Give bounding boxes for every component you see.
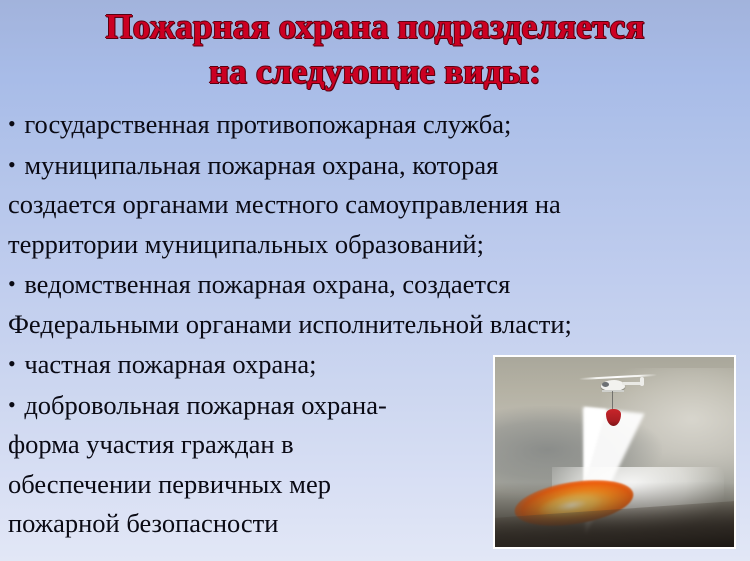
title-line-1: Пожарная охрана подразделяется [0,4,750,49]
list-item-text: добровольная пожарная охрана- [24,390,387,420]
list-item-continuation: территории муниципальных образований; [8,225,708,265]
list-item-text: пожарной безопасности [8,508,278,538]
list-item-text: Федеральными органами исполнительной вла… [8,309,572,339]
helicopter-tail-fin [640,377,644,386]
list-item-continuation: Федеральными органами исполнительной вла… [8,305,708,345]
bullet-icon: • [8,111,18,136]
bullet-icon: • [8,351,18,376]
list-item-continuation: создается органами местного самоуправлен… [8,185,708,225]
slide: Пожарная охрана подразделяется на следую… [0,0,750,561]
page-title: Пожарная охрана подразделяется на следую… [0,4,750,94]
list-item: • муниципальная пожарная охрана, которая [8,145,708,186]
list-item: • ведомственная пожарная охрана, создает… [8,264,708,305]
bullet-icon: • [8,271,18,296]
list-item-text: обеспечении первичных мер [8,469,331,499]
list-item-text: создается органами местного самоуправлен… [8,189,561,219]
photo-scene [495,357,734,547]
bullet-icon: • [8,152,18,177]
list-item-text: территории муниципальных образований; [8,229,484,259]
title-line-2: на следующие виды: [0,49,750,94]
list-item-text: ведомственная пожарная охрана, создается [24,269,510,299]
bucket-cable [612,391,614,411]
list-item-text: частная пожарная охрана; [24,349,316,379]
list-item-text: муниципальная пожарная охрана, которая [24,150,498,180]
list-item: • государственная противопожарная служба… [8,104,708,145]
list-item-text: форма участия граждан в [8,429,294,459]
firefighting-helicopter-photo [493,355,736,549]
rotor-blade [579,374,657,380]
helicopter-icon [591,374,647,396]
helicopter-cockpit [602,382,609,387]
bullet-icon: • [8,392,18,417]
list-item-text: государственная противопожарная служба; [24,109,511,139]
